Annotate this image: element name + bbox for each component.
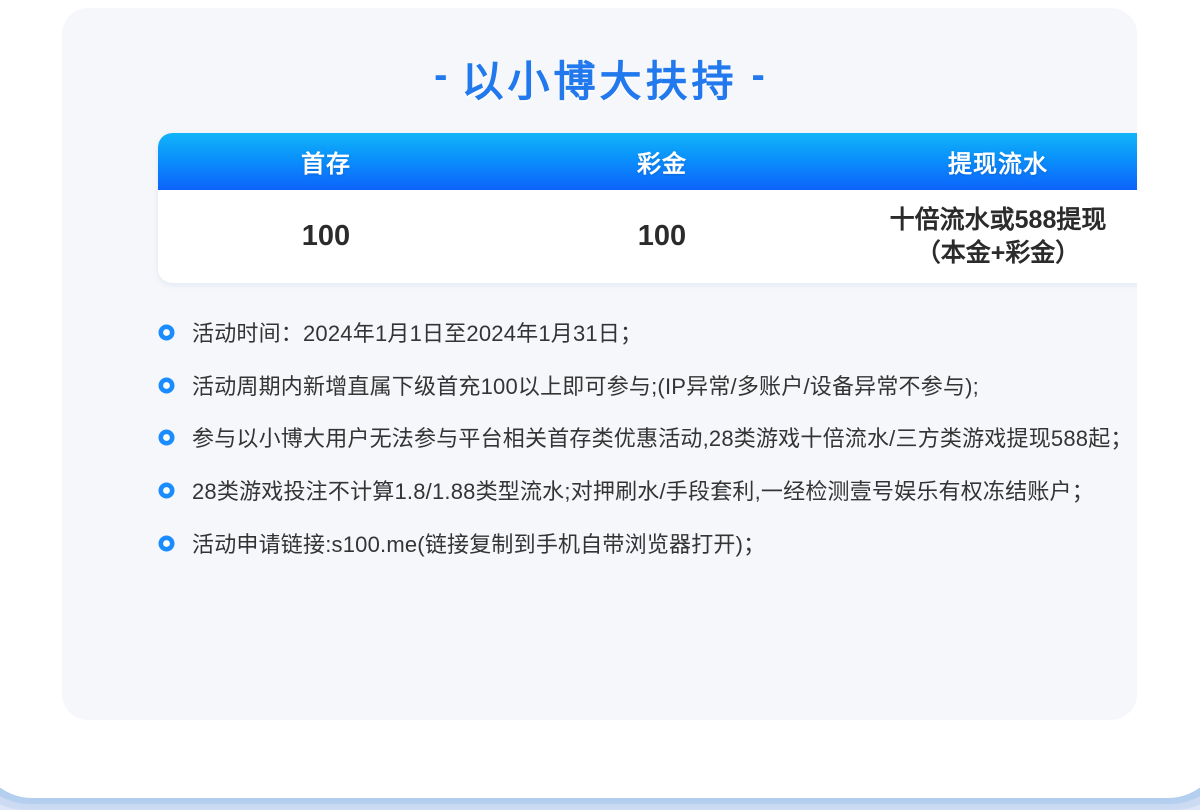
column-header-first-deposit: 首存 xyxy=(158,133,494,190)
cell-bonus: 100 xyxy=(494,190,830,283)
column-header-withdraw-turnover: 提现流水 xyxy=(830,133,1137,190)
list-item: 活动周期内新增直属下级首充100以上即可参与;(IP异常/多账户/设备异常不参与… xyxy=(158,369,1137,405)
cell-withdraw-turnover: 十倍流水或588提现 （本金+彩金） xyxy=(830,190,1137,283)
table-header-row: 首存 彩金 提现流水 xyxy=(158,133,1137,190)
withdraw-turnover-line1: 十倍流水或588提现 xyxy=(890,206,1107,234)
list-item: 28类游戏投注不计算1.8/1.88类型流水;对押刷水/手段套利,一经检测壹号娱… xyxy=(158,474,1137,510)
term-text-exclusivity: 参与以小博大用户无法参与平台相关首存类优惠活动,28类游戏十倍流水/三方类游戏提… xyxy=(192,421,1137,457)
title-dash-right: - xyxy=(752,53,765,98)
term-text-application-link: 活动申请链接:s100.me(链接复制到手机自带浏览器打开)； xyxy=(192,527,1137,563)
terms-list: 活动时间：2024年1月1日至2024年1月31日； 活动周期内新增直属下级首充… xyxy=(158,316,1137,579)
list-item: 活动申请链接:s100.me(链接复制到手机自带浏览器打开)； xyxy=(158,527,1137,563)
ring-bullet-icon xyxy=(158,535,175,552)
withdraw-turnover-line2: （本金+彩金） xyxy=(890,237,1107,270)
ring-bullet-icon xyxy=(158,324,175,341)
term-text-eligibility: 活动周期内新增直属下级首充100以上即可参与;(IP异常/多账户/设备异常不参与… xyxy=(192,369,1137,405)
cell-first-deposit: 100 xyxy=(158,190,494,283)
page-title: -以小博大扶持- xyxy=(62,48,1137,109)
ring-bullet-icon xyxy=(158,377,175,394)
table-row: 100 100 十倍流水或588提现 （本金+彩金） xyxy=(158,190,1137,283)
title-text: 以小博大扶持 xyxy=(461,48,737,109)
column-header-bonus: 彩金 xyxy=(494,133,830,190)
title-dash-left: - xyxy=(434,53,447,98)
promotion-card: -以小博大扶持- 首存 彩金 提现流水 100 100 十倍流水或588提现 （… xyxy=(62,8,1137,720)
list-item: 参与以小博大用户无法参与平台相关首存类优惠活动,28类游戏十倍流水/三方类游戏提… xyxy=(158,421,1137,457)
term-text-turnover-rules: 28类游戏投注不计算1.8/1.88类型流水;对押刷水/手段套利,一经检测壹号娱… xyxy=(192,474,1137,510)
ring-bullet-icon xyxy=(158,429,175,446)
rewards-table: 首存 彩金 提现流水 100 100 十倍流水或588提现 （本金+彩金） xyxy=(158,133,1137,283)
ring-bullet-icon xyxy=(158,482,175,499)
term-text-activity-period: 活动时间：2024年1月1日至2024年1月31日； xyxy=(192,316,1137,352)
list-item: 活动时间：2024年1月1日至2024年1月31日； xyxy=(158,316,1137,352)
